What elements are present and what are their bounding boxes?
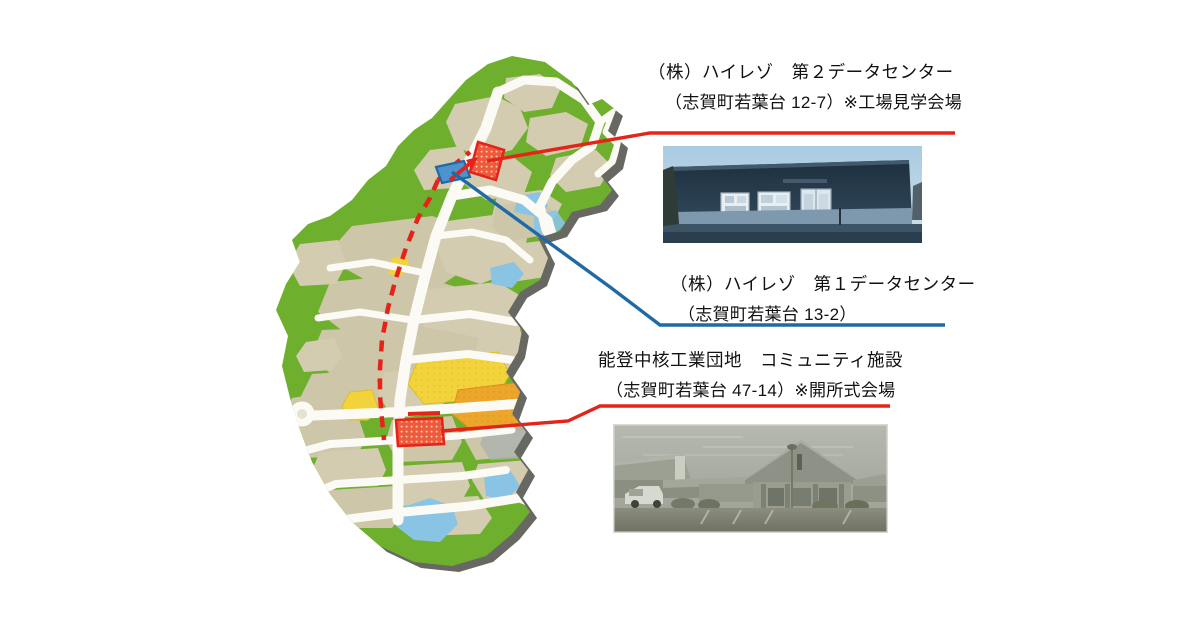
callout-community-line2: （志賀町若葉台 47-14）※開所式会場 (606, 382, 903, 399)
callout-dc2-line1: （株）ハイレゾ 第２データセンター (648, 64, 962, 82)
callout-dc1-line1: （株）ハイレゾ 第１データセンター (670, 276, 976, 294)
marker-red-lot-south[interactable] (396, 418, 444, 446)
callout-data-center-2: （株）ハイレゾ 第２データセンター （志賀町若葉台 12-7）※工場見学会場 (648, 64, 962, 111)
callout-data-center-1: （株）ハイレゾ 第１データセンター （志賀町若葉台 13-2） (670, 276, 976, 323)
callout-dc1-line2: （志賀町若葉台 13-2） (678, 306, 976, 323)
photo-data-center-2-image (663, 146, 922, 243)
industrial-park-map (0, 0, 1200, 630)
photo-data-center-2 (663, 146, 922, 243)
photo-community-facility-image (613, 424, 888, 533)
callout-community-facility: 能登中核工業団地 コミュニティ施設 （志賀町若葉台 47-14）※開所式会場 (598, 352, 903, 399)
callout-community-line1: 能登中核工業団地 コミュニティ施設 (598, 352, 903, 370)
callout-dc2-line2: （志賀町若葉台 12-7）※工場見学会場 (665, 94, 962, 111)
map-graphic-canvas: （株）ハイレゾ 第２データセンター （志賀町若葉台 12-7）※工場見学会場 （… (0, 0, 1200, 630)
marker-red-lot-south-tick (408, 413, 440, 414)
photo-community-facility (613, 424, 888, 533)
